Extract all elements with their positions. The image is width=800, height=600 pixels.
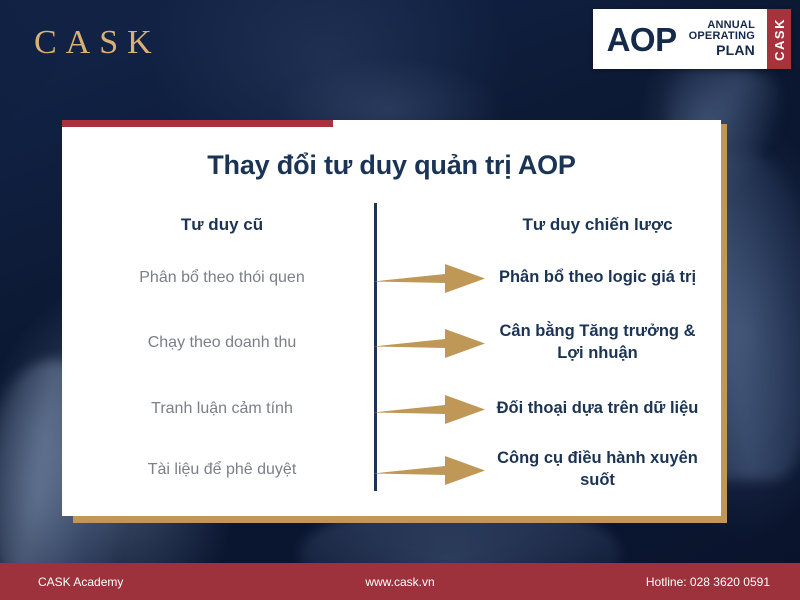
row-old-cell: Chạy theo doanh thu	[76, 334, 374, 352]
content-card-wrapper: Thay đổi tư duy quản trị AOP Tư duy cũ T…	[62, 113, 727, 523]
row-arrow-cell	[374, 453, 484, 487]
aop-word-plan: PLAN	[689, 43, 755, 58]
footer-bar: CASK Academy www.cask.vn Hotline: 028 36…	[0, 563, 800, 600]
row-new-cell: Đối thoại dựa trên dữ liệu	[484, 398, 707, 420]
row-arrow-cell	[374, 261, 484, 295]
aop-words-block: ANNUAL OPERATING PLAN	[689, 20, 755, 59]
aop-side-label: CASK	[772, 18, 787, 61]
footer-hotline-label: Hotline: 028 3620 0591	[646, 575, 770, 589]
comparison-matrix: Tư duy cũ Tư duy chiến lược Phân bổ theo…	[62, 203, 721, 500]
slide-root: CASK AOP ANNUAL OPERATING PLAN CASK Thay…	[0, 0, 800, 600]
row-arrow-cell	[374, 392, 484, 426]
table-row: Tranh luận cảm tính Đối thoại dựa trên d…	[76, 378, 707, 439]
header-new-label: Tư duy chiến lược	[522, 215, 672, 234]
row-old-label: Chạy theo doanh thu	[148, 334, 297, 351]
arrow-right-icon	[373, 453, 485, 487]
red-accent-bar	[62, 120, 333, 127]
row-old-cell: Phân bổ theo thói quen	[76, 269, 374, 287]
page-title: Thay đổi tư duy quản trị AOP	[62, 150, 721, 181]
table-row: Chạy theo doanh thu Cân bằng Tăng trưởng…	[76, 308, 707, 378]
row-new-label: Phân bổ theo logic giá trị	[499, 268, 696, 286]
aop-badge-main: AOP ANNUAL OPERATING PLAN	[593, 9, 767, 69]
row-old-cell: Tranh luận cảm tính	[76, 400, 374, 418]
content-card: Thay đổi tư duy quản trị AOP Tư duy cũ T…	[62, 120, 721, 516]
cask-wordmark: CASK	[34, 24, 161, 62]
aop-badge-side-tab: CASK	[767, 9, 791, 69]
row-old-cell: Tài liệu để phê duyệt	[76, 461, 374, 479]
row-arrow-cell	[374, 326, 484, 360]
header-cell-right: Tư duy chiến lược	[484, 215, 707, 235]
arrow-right-icon	[373, 261, 485, 295]
header-old-label: Tư duy cũ	[181, 215, 263, 234]
row-new-cell: Phân bổ theo logic giá trị	[484, 267, 707, 289]
aop-badge: AOP ANNUAL OPERATING PLAN CASK	[593, 9, 791, 69]
row-new-label: Cân bằng Tăng trưởng & Lợi nhuận	[499, 322, 695, 362]
matrix-header-row: Tư duy cũ Tư duy chiến lược	[76, 203, 707, 247]
aop-abbr-label: AOP	[607, 23, 677, 56]
table-row: Phân bổ theo thói quen Phân bổ theo logi…	[76, 247, 707, 308]
row-old-label: Tài liệu để phê duyệt	[148, 461, 297, 478]
table-row: Tài liệu để phê duyệt Công cụ điều hành …	[76, 439, 707, 500]
header-cell-left: Tư duy cũ	[76, 215, 374, 235]
arrow-right-icon	[373, 326, 485, 360]
row-old-label: Phân bổ theo thói quen	[139, 269, 304, 286]
row-new-label: Công cụ điều hành xuyên suốt	[497, 449, 698, 489]
row-new-label: Đối thoại dựa trên dữ liệu	[497, 399, 699, 417]
arrow-right-icon	[373, 392, 485, 426]
row-old-label: Tranh luận cảm tính	[151, 400, 293, 417]
footer-company-label: CASK Academy	[38, 575, 123, 589]
row-new-cell: Công cụ điều hành xuyên suốt	[484, 448, 707, 492]
row-new-cell: Cân bằng Tăng trưởng & Lợi nhuận	[484, 321, 707, 365]
